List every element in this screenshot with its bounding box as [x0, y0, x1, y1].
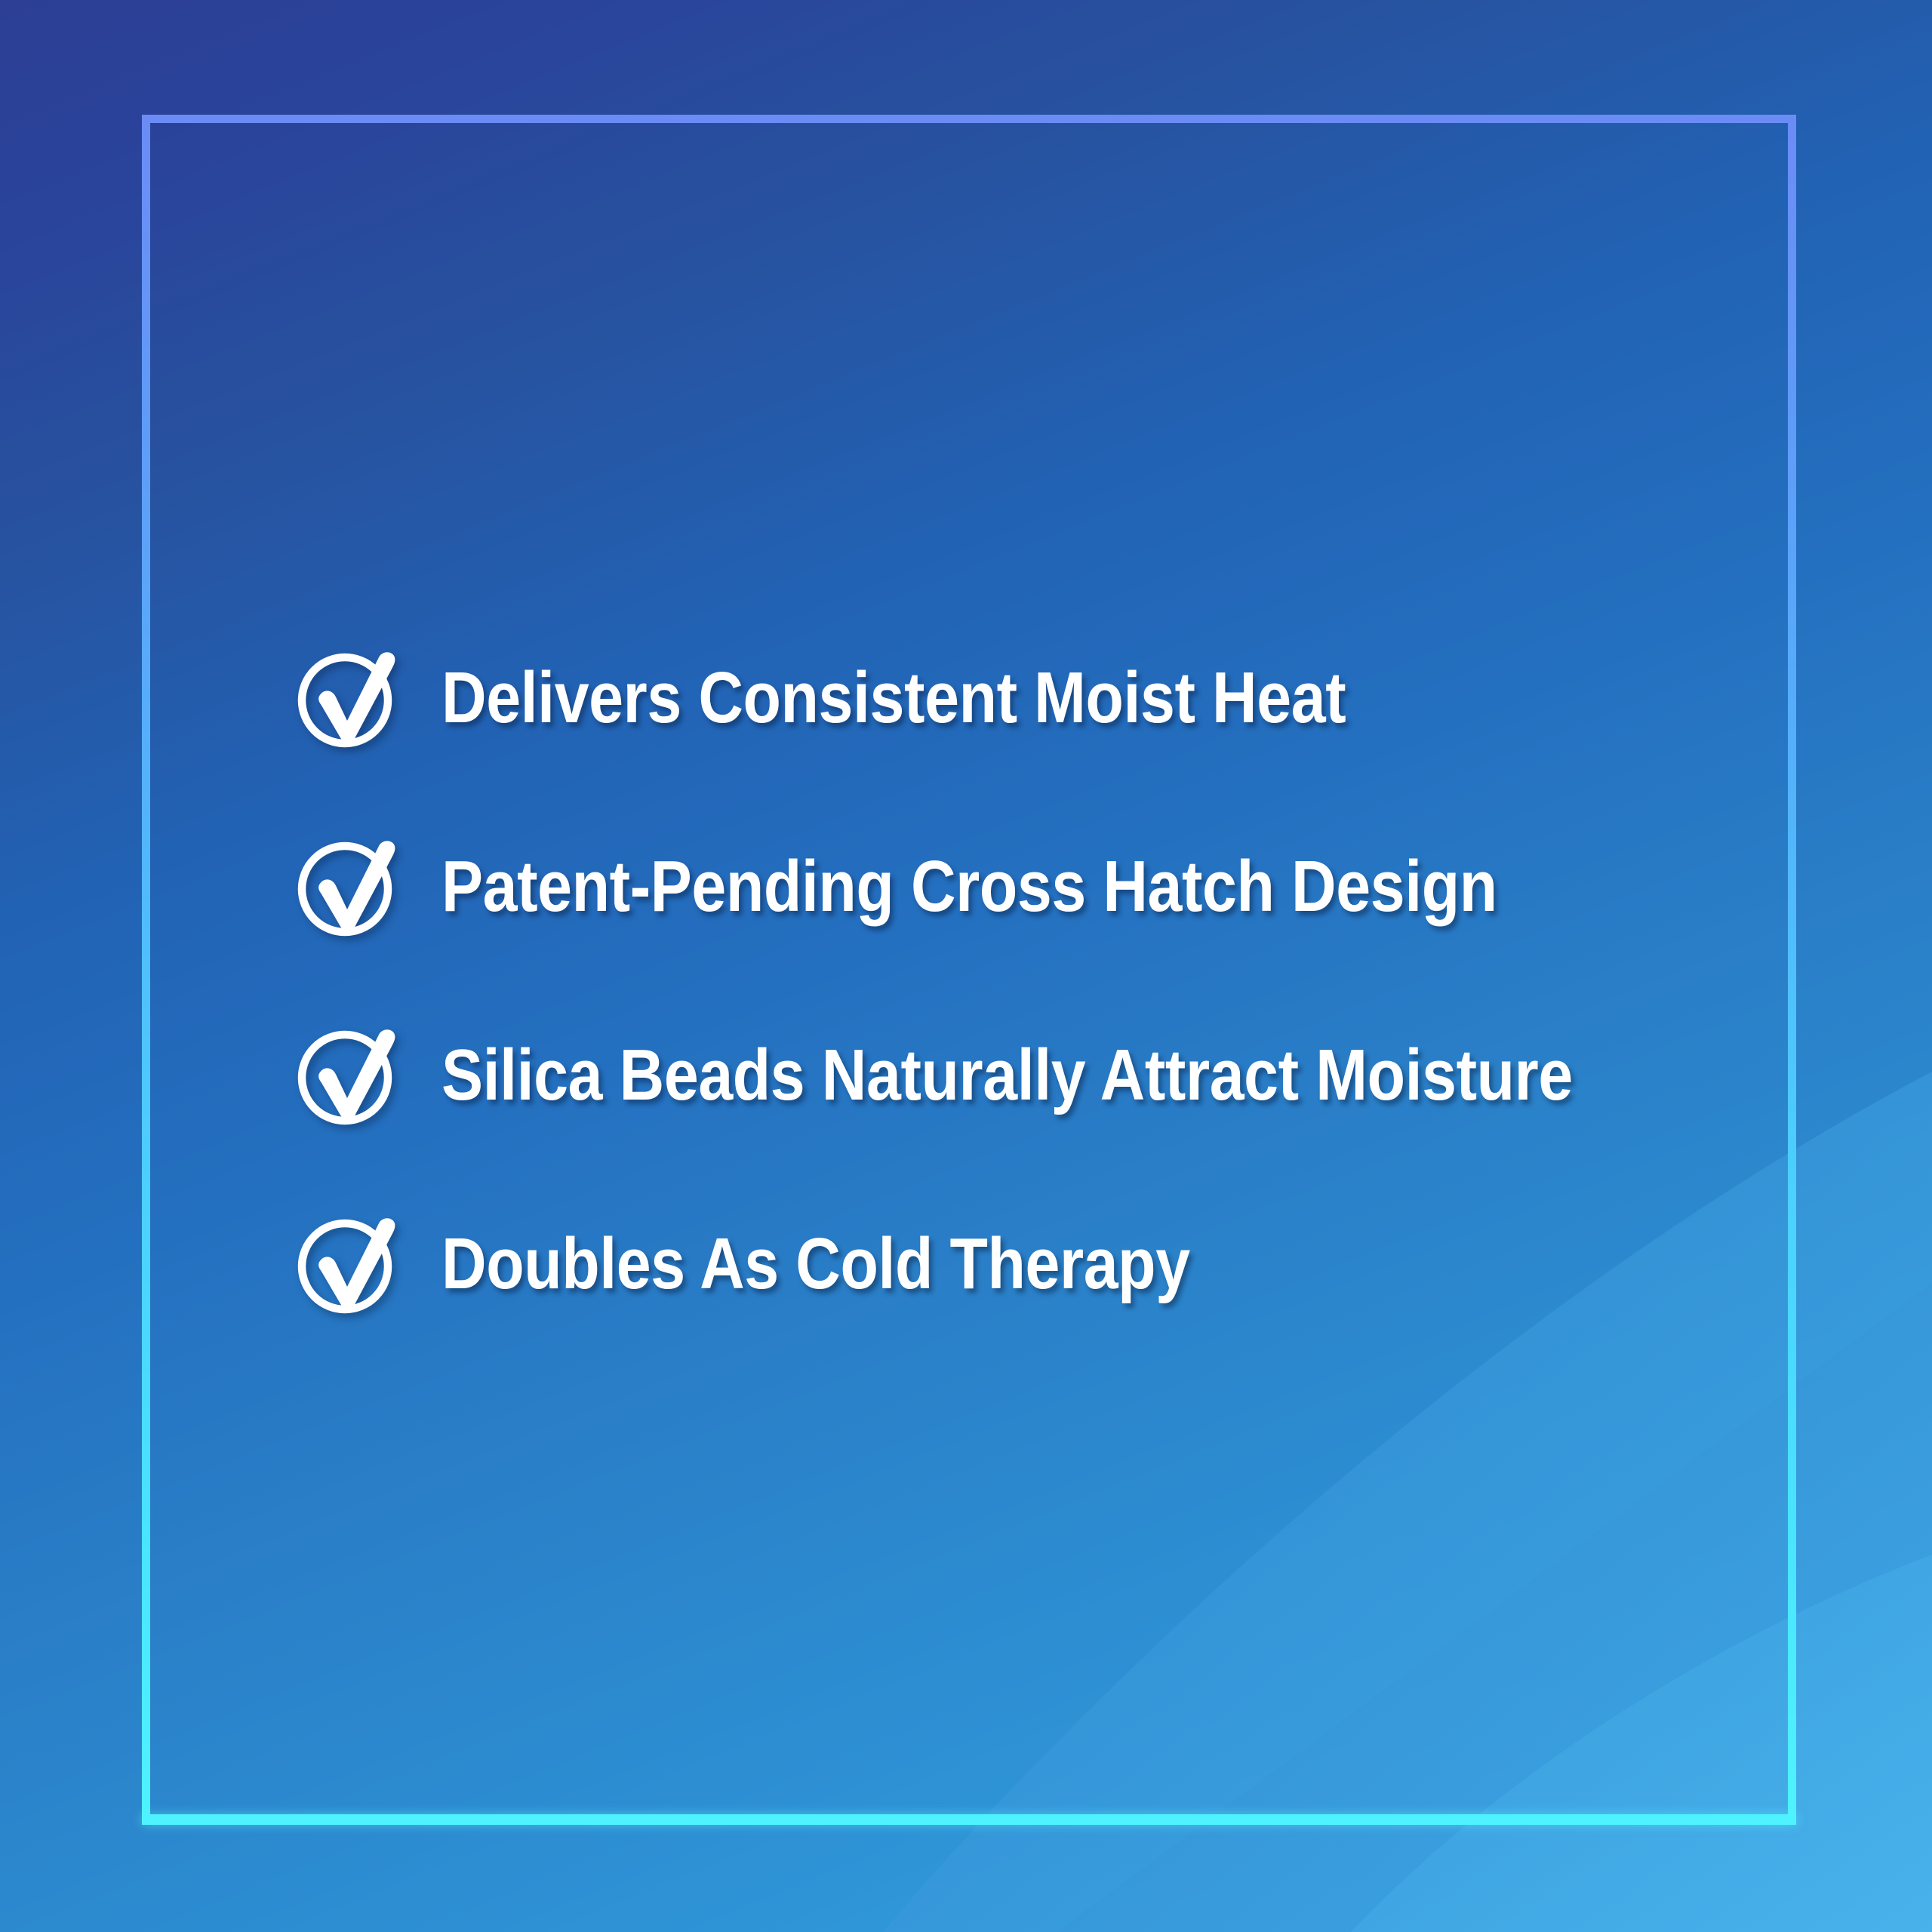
checklist-item-label: Doubles As Cold Therapy [441, 1228, 1190, 1300]
checklist-item: Delivers Consistent Moist Heat [291, 604, 1724, 792]
promo-card: Delivers Consistent Moist Heat Patent-Pe… [0, 0, 1932, 1932]
circle-check-icon [291, 1207, 404, 1321]
corner-wedge-shape [1057, 1283, 1932, 1932]
circle-check-icon [291, 1019, 404, 1132]
circle-check-icon [291, 641, 404, 755]
frame-edge-left [142, 115, 150, 1825]
checklist-item: Doubles As Cold Therapy [291, 1170, 1724, 1358]
checklist-item: Silica Beads Naturally Attract Moisture [291, 981, 1724, 1170]
checklist-item-label: Silica Beads Naturally Attract Moisture [441, 1039, 1573, 1112]
checklist-item-label: Delivers Consistent Moist Heat [441, 662, 1346, 734]
circle-check-icon [291, 830, 404, 943]
feature-checklist: Delivers Consistent Moist Heat Patent-Pe… [291, 604, 1724, 1358]
frame-edge-bottom [142, 1814, 1796, 1825]
swoosh-band-secondary [1351, 1555, 1932, 1932]
checklist-item-label: Patent-Pending Cross Hatch Design [441, 851, 1497, 923]
checklist-item: Patent-Pending Cross Hatch Design [291, 792, 1724, 981]
frame-edge-right [1788, 115, 1796, 1825]
frame-edge-top [142, 115, 1796, 123]
